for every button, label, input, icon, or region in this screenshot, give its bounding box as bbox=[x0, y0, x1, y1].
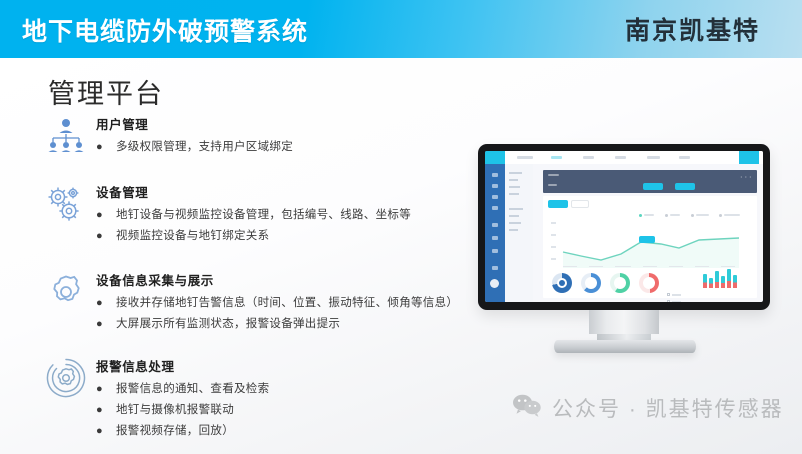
bullet-text: 地钉设备与视频监控设备管理，包括编号、线路、坐标等 bbox=[107, 206, 411, 224]
topbar-menu-item[interactable] bbox=[583, 156, 594, 159]
legend-label bbox=[724, 214, 740, 216]
dashboard-chart-card bbox=[543, 196, 757, 298]
legend-label bbox=[670, 214, 680, 216]
legend-marker bbox=[639, 214, 642, 217]
donut-chart-4 bbox=[639, 273, 659, 293]
bullet-item: ● 地钉设备与视频监控设备管理，包括编号、线路、坐标等 bbox=[96, 206, 411, 224]
donut-chart-2 bbox=[581, 273, 601, 293]
page-title: 管理平台 bbox=[48, 72, 164, 111]
sidebar-nav-icon bbox=[492, 195, 498, 199]
bullet-marker-icon: ● bbox=[96, 315, 107, 333]
topbar-breadcrumb bbox=[517, 156, 533, 159]
bullet-marker-icon: ● bbox=[96, 380, 107, 398]
sidebar-nav-icon bbox=[492, 236, 498, 240]
panel-more-icon[interactable]: • • • bbox=[741, 174, 752, 179]
y-axis-tick bbox=[551, 258, 556, 260]
x-axis-tick bbox=[615, 266, 631, 268]
feature-section-body: 用户管理 ● 多级权限管理，支持用户区域绑定 bbox=[96, 114, 293, 159]
bar-series-item bbox=[733, 275, 737, 288]
users-hierarchy-icon bbox=[44, 114, 88, 158]
bullet-marker-icon: ● bbox=[96, 206, 107, 224]
gear-outline-icon bbox=[44, 270, 88, 314]
bar-series-item bbox=[703, 274, 707, 288]
sidebar-nav-icon bbox=[492, 184, 498, 188]
bullet-item: ● 报警视频存储，回放） bbox=[96, 422, 269, 440]
sidebar-nav-icon bbox=[492, 223, 498, 227]
legend-label bbox=[672, 294, 681, 296]
section-heading: 设备管理 bbox=[96, 182, 411, 201]
nav-label bbox=[509, 193, 519, 195]
panel-label bbox=[548, 184, 557, 186]
legend-label bbox=[696, 214, 709, 216]
topbar-menu-item[interactable] bbox=[679, 156, 690, 159]
section-heading: 设备信息采集与展示 bbox=[96, 270, 458, 289]
nav-label bbox=[509, 229, 518, 231]
legend-swatch bbox=[667, 293, 670, 296]
bullet-item: ● 多级权限管理，支持用户区域绑定 bbox=[96, 138, 293, 156]
y-axis-tick bbox=[551, 246, 556, 248]
gears-icon bbox=[44, 182, 88, 226]
bullet-text: 大屏展示所有监测状态，报警设备弹出提示 bbox=[107, 315, 340, 333]
legend-label bbox=[644, 214, 654, 216]
x-axis-tick bbox=[669, 266, 683, 268]
donut-chart-3 bbox=[610, 273, 630, 293]
x-axis-tick bbox=[695, 266, 709, 268]
nav-label bbox=[509, 172, 522, 174]
sidebar-nav-icon bbox=[492, 206, 498, 210]
chart-tab-active[interactable] bbox=[548, 200, 568, 208]
y-axis-tick bbox=[551, 222, 556, 224]
section-heading: 用户管理 bbox=[96, 114, 293, 133]
dashboard-sidebar bbox=[485, 151, 505, 302]
sidebar-avatar bbox=[490, 279, 499, 288]
legend-marker bbox=[691, 214, 694, 217]
bar-series-item bbox=[727, 269, 731, 288]
bullet-text: 多级权限管理，支持用户区域绑定 bbox=[107, 138, 293, 156]
monitor-screen: • • • bbox=[485, 151, 763, 302]
bullet-marker-icon: ● bbox=[96, 401, 107, 419]
bullet-text: 接收并存储地钉告警信息（时间、位置、振动特征、倾角等信息） bbox=[107, 294, 458, 312]
chart-tab-inactive[interactable] bbox=[571, 200, 589, 208]
donut-chart-1 bbox=[552, 273, 572, 293]
monitor-bezel: • • • bbox=[478, 144, 770, 310]
dashboard-logo bbox=[485, 151, 505, 164]
topbar-menu-item[interactable] bbox=[551, 156, 562, 159]
desktop-monitor-mockup: • • • bbox=[478, 144, 786, 394]
nav-label bbox=[509, 222, 521, 224]
slide-canvas: 管理平台 用户管理 ● 多级权限管理，支持用户区域绑定 bbox=[0, 58, 802, 454]
section-heading: 报警信息处理 bbox=[96, 356, 269, 375]
feature-section-body: 报警信息处理 ● 报警信息的通知、查看及检索 ● 地钉与摄像机报警联动 ● 报警… bbox=[96, 356, 269, 443]
panel-reset-button[interactable] bbox=[675, 183, 695, 190]
monitor-base bbox=[554, 340, 696, 353]
bullet-item: ● 报警信息的通知、查看及检索 bbox=[96, 380, 269, 398]
nav-label bbox=[509, 208, 523, 210]
sidebar-nav-icon bbox=[492, 249, 498, 253]
bullet-text: 报警视频存储，回放） bbox=[107, 422, 234, 440]
x-axis-tick bbox=[563, 266, 577, 268]
bullet-item: ● 接收并存储地钉告警信息（时间、位置、振动特征、倾角等信息） bbox=[96, 294, 458, 312]
bar-series-item bbox=[709, 278, 713, 288]
feature-section-body: 设备信息采集与展示 ● 接收并存储地钉告警信息（时间、位置、振动特征、倾角等信息… bbox=[96, 270, 458, 336]
panel-label bbox=[548, 174, 559, 176]
legend-swatch bbox=[667, 300, 670, 302]
bullet-item: ● 视频监控设备与地钉绑定关系 bbox=[96, 227, 411, 245]
legend-label bbox=[672, 301, 681, 302]
wechat-icon bbox=[512, 393, 542, 423]
bullet-item: ● 大屏展示所有监测状态，报警设备弹出提示 bbox=[96, 315, 458, 333]
topbar-menu-item[interactable] bbox=[647, 156, 660, 159]
x-axis-tick bbox=[643, 266, 657, 268]
sidebar-nav-icon bbox=[492, 173, 498, 177]
nav-label bbox=[509, 215, 519, 217]
sidebar-nav-icon bbox=[492, 266, 498, 270]
topbar-action-button[interactable] bbox=[739, 151, 759, 164]
page-title-header: 地下电缆防外破预警系统 bbox=[22, 12, 308, 48]
bar-series-item bbox=[715, 271, 719, 288]
dashboard-secondary-nav bbox=[505, 164, 533, 302]
y-axis-tick bbox=[551, 234, 556, 236]
bullet-text: 地钉与摄像机报警联动 bbox=[107, 401, 234, 419]
bullet-item: ● 地钉与摄像机报警联动 bbox=[96, 401, 269, 419]
feature-section-body: 设备管理 ● 地钉设备与视频监控设备管理，包括编号、线路、坐标等 ● 视频监控设… bbox=[96, 182, 411, 248]
x-axis-tick bbox=[589, 266, 603, 268]
bullet-text: 视频监控设备与地钉绑定关系 bbox=[107, 227, 269, 245]
bullet-marker-icon: ● bbox=[96, 138, 107, 156]
dashboard-topbar bbox=[505, 151, 763, 164]
panel-search-button[interactable] bbox=[643, 183, 663, 190]
wechat-account-label: 公众号 · 凯基特传感器 bbox=[552, 393, 784, 423]
nav-label bbox=[509, 179, 518, 181]
line-chart bbox=[559, 218, 749, 268]
bullet-marker-icon: ● bbox=[96, 422, 107, 440]
legend-marker bbox=[719, 214, 722, 217]
gear-in-circle-icon bbox=[44, 356, 88, 400]
monitor-neck bbox=[589, 310, 659, 334]
topbar-menu-item[interactable] bbox=[615, 156, 626, 159]
legend-marker bbox=[665, 214, 668, 217]
chart-tooltip bbox=[639, 236, 655, 243]
wechat-watermark: 公众号 · 凯基特传感器 bbox=[512, 393, 784, 423]
nav-label bbox=[509, 186, 520, 188]
app-header-bar: 地下电缆防外破预警系统 南京凯基特 bbox=[0, 0, 802, 58]
bullet-marker-icon: ● bbox=[96, 227, 107, 245]
dashboard-filter-panel: • • • bbox=[543, 170, 757, 193]
x-axis-tick bbox=[721, 266, 735, 268]
company-brand-label: 南京凯基特 bbox=[625, 11, 760, 47]
bullet-text: 报警信息的通知、查看及检索 bbox=[107, 380, 269, 398]
bar-series-item bbox=[721, 276, 725, 288]
bullet-marker-icon: ● bbox=[96, 294, 107, 312]
